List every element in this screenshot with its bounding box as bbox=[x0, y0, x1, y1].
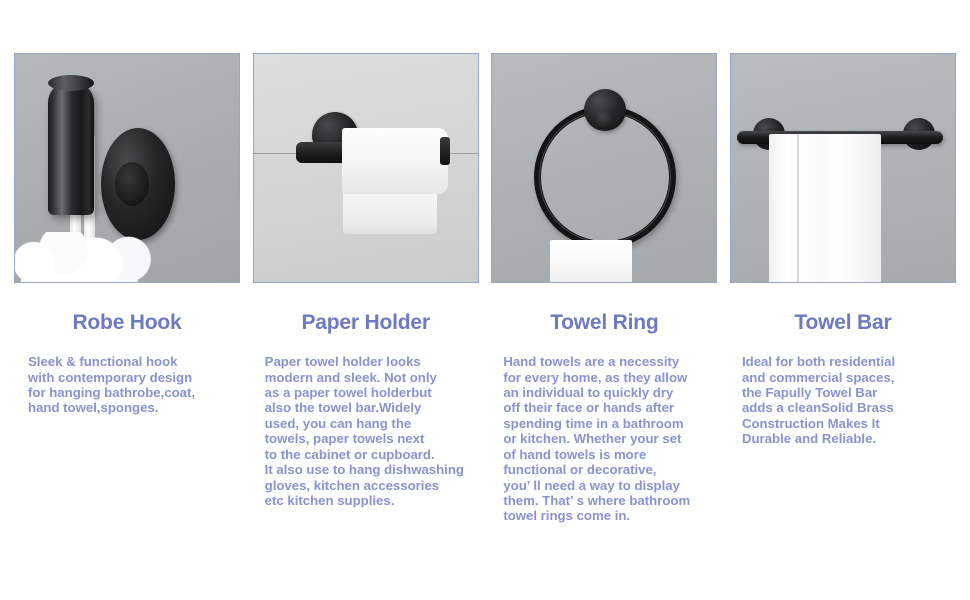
sponge-icon bbox=[14, 232, 155, 283]
feature-description: Sleek & functional hook with contemporar… bbox=[14, 354, 240, 416]
robe-hook-cap-icon bbox=[48, 75, 94, 91]
paper-holder-endcap-icon bbox=[440, 137, 450, 165]
paper-holder-arm-icon bbox=[296, 142, 348, 163]
robe-hook-stem-icon bbox=[48, 81, 94, 215]
feature-description: Hand towels are a necessity for every ho… bbox=[491, 354, 717, 524]
hand-towel-icon bbox=[550, 240, 632, 283]
feature-card-towel-ring[interactable]: Towel Ring Hand towels are a necessity f… bbox=[491, 0, 717, 600]
feature-description: Paper towel holder looks modern and slee… bbox=[253, 354, 479, 508]
feature-card-towel-bar[interactable]: Towel Bar Ideal for both residential and… bbox=[730, 0, 956, 600]
feature-card-paper-holder[interactable]: Paper Holder Paper towel holder looks mo… bbox=[253, 0, 479, 600]
product-image-paper-holder[interactable] bbox=[253, 53, 479, 283]
towel-fold-line-icon bbox=[797, 134, 799, 283]
product-image-robe-hook[interactable] bbox=[14, 53, 240, 283]
feature-card-robe-hook[interactable]: Robe Hook Sleek & functional hook with c… bbox=[14, 0, 240, 600]
feature-title: Paper Holder bbox=[253, 311, 479, 334]
feature-title: Towel Bar bbox=[730, 311, 956, 334]
feature-title: Towel Ring bbox=[491, 311, 717, 334]
feature-title: Robe Hook bbox=[14, 311, 240, 334]
product-image-towel-bar[interactable] bbox=[730, 53, 956, 283]
feature-description: Ideal for both residential and commercia… bbox=[730, 354, 956, 447]
product-image-towel-ring[interactable] bbox=[491, 53, 717, 283]
paper-sheet-icon bbox=[343, 192, 437, 234]
feature-grid: Robe Hook Sleek & functional hook with c… bbox=[0, 0, 970, 600]
robe-hook-plate-boss-icon bbox=[115, 162, 149, 206]
towel-icon bbox=[769, 134, 881, 283]
paper-roll-icon bbox=[342, 128, 448, 194]
